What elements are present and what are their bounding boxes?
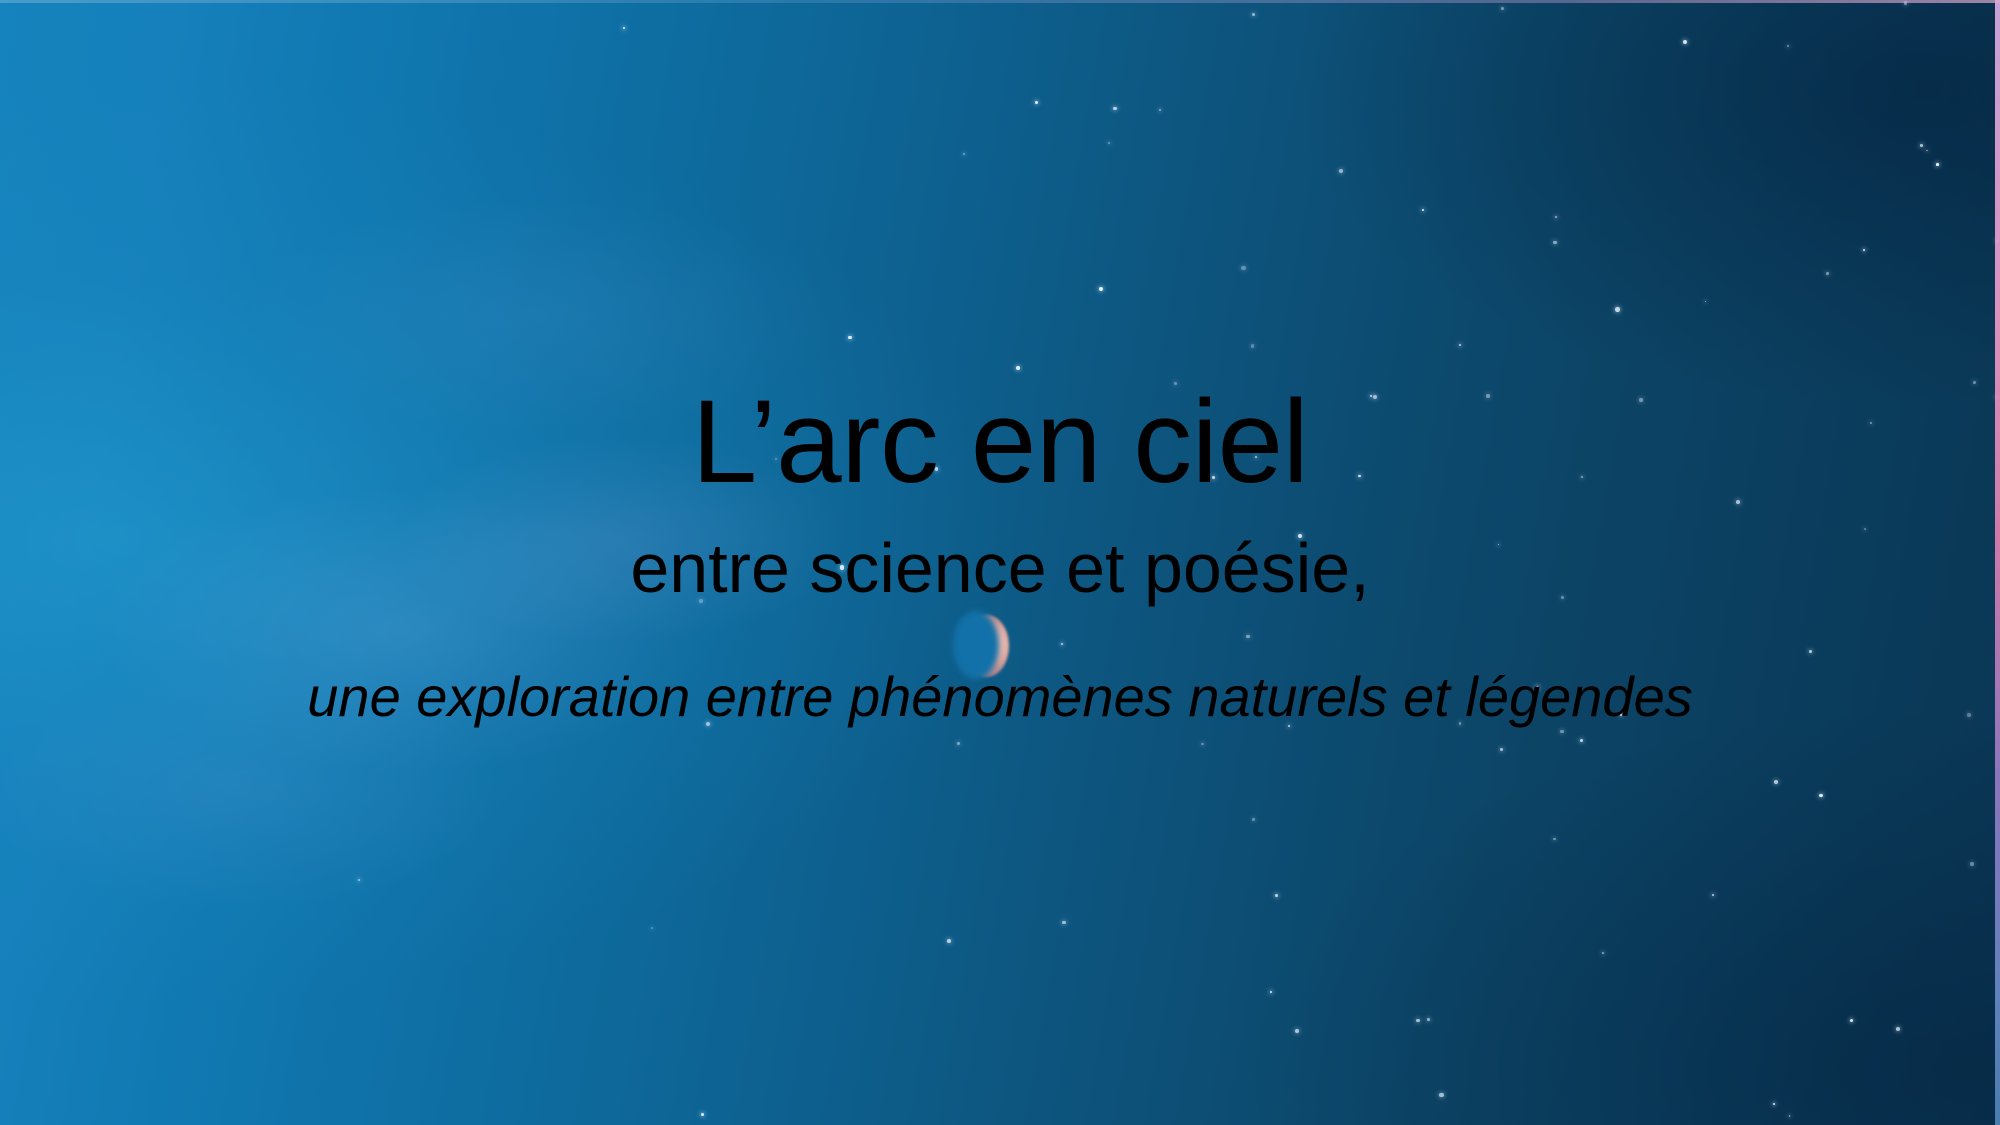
page-subtitle: entre science et poésie, (0, 532, 2000, 606)
right-edge-rim (1995, 0, 2000, 1125)
title-slide: L’arc en ciel entre science et poésie, u… (0, 0, 2000, 1125)
page-tagline: une exploration entre phénomènes naturel… (0, 668, 2000, 727)
top-edge-rim (0, 0, 2000, 3)
text-layer: L’arc en ciel entre science et poésie, u… (0, 0, 2000, 1125)
page-title: L’arc en ciel (0, 382, 2000, 502)
